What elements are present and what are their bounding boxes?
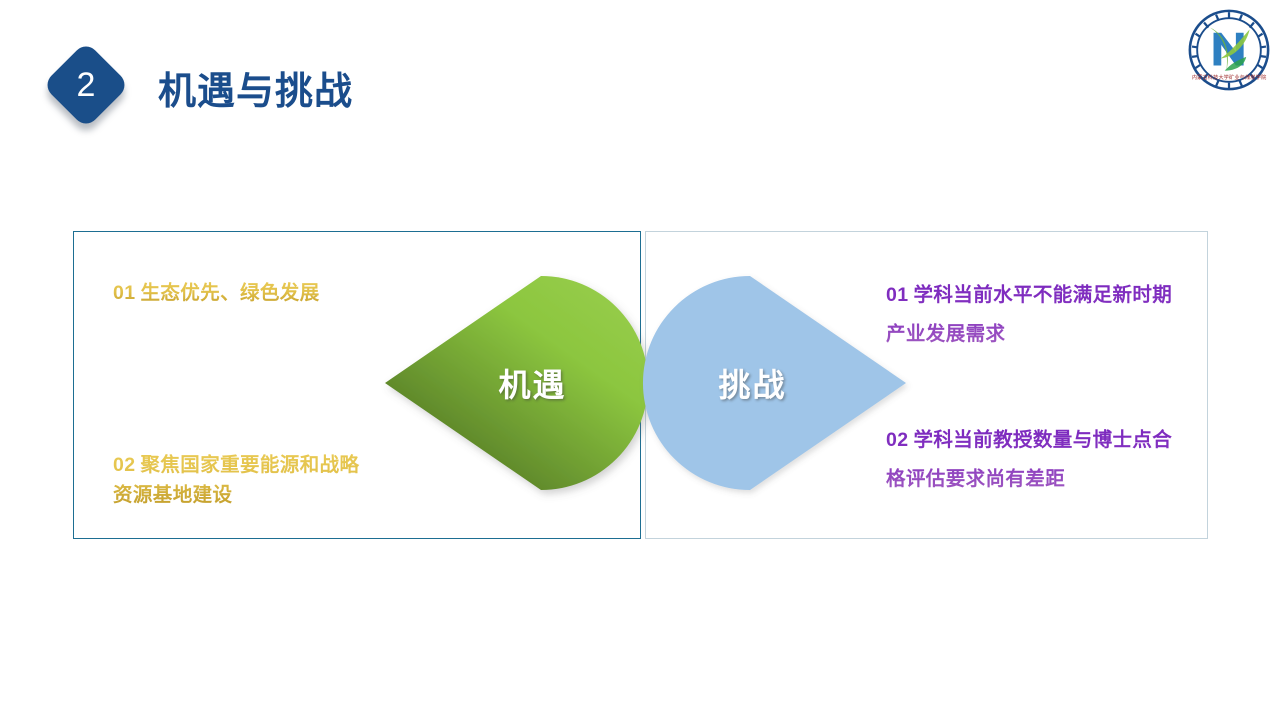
challenge-bullet-2: 02学科当前教授数量与博士点合格评估要求尚有差距 [886, 421, 1186, 499]
opportunity-bullet-1: 01生态优先、绿色发展 [113, 278, 353, 308]
section-number-badge: 2 [42, 41, 130, 129]
opportunity-bullet-2-number: 02 [113, 454, 136, 476]
opportunity-bullet-2-text: 聚焦国家重要能源和战略资源基地建设 [113, 454, 359, 506]
opportunity-bullet-2: 02聚焦国家重要能源和战略资源基地建设 [113, 450, 363, 510]
slide-canvas: 2 机遇与挑战 [0, 0, 1280, 720]
opportunity-bullet-1-number: 01 [113, 282, 136, 304]
challenge-bullet-1: 01学科当前水平不能满足新时期产业发展需求 [886, 276, 1186, 354]
section-number-label: 2 [55, 54, 117, 116]
challenge-bullet-1-text: 学科当前水平不能满足新时期产业发展需求 [886, 284, 1172, 345]
challenge-bullet-2-text: 学科当前教授数量与博士点合格评估要求尚有差距 [886, 429, 1172, 490]
opportunity-bullet-1-text: 生态优先、绿色发展 [141, 282, 320, 304]
challenge-teardrop-shape [643, 276, 908, 490]
slide-header: 2 机遇与挑战 [0, 0, 1280, 150]
page-title: 机遇与挑战 [158, 60, 353, 115]
university-logo-icon: 内蒙古科技大学矿业与煤炭学院 [1186, 7, 1272, 93]
opportunity-teardrop-shape [383, 276, 648, 490]
svg-text:内蒙古科技大学矿业与煤炭学院: 内蒙古科技大学矿业与煤炭学院 [1192, 73, 1267, 81]
challenge-bullet-2-number: 02 [886, 429, 909, 451]
challenge-bullet-1-number: 01 [886, 284, 909, 306]
